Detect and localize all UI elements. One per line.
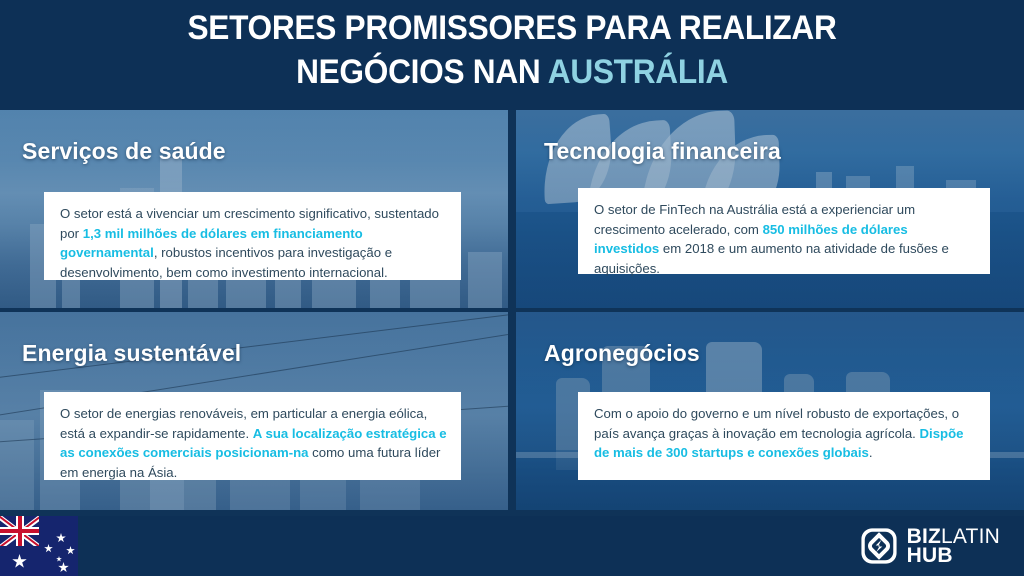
card-text-part: . — [869, 445, 873, 460]
quadrant-title: Energia sustentável — [22, 340, 241, 367]
logo-wordmark: BIZLATIN HUB — [907, 527, 1000, 565]
page-title: SETORES PROMISSORES PARA REALIZAR NEGÓCI… — [36, 6, 988, 94]
quadrant-card: O setor está a vivenciar um crescimento … — [44, 192, 461, 280]
union-jack — [0, 516, 39, 546]
title-accent-word: AUSTRÁLIA — [548, 53, 728, 91]
quadrant-card: O setor de FinTech na Austrália está a e… — [578, 188, 990, 274]
star-epsilon-crucis — [58, 562, 69, 573]
bizlatinhub-logo[interactable]: BIZLATIN HUB — [860, 527, 1000, 565]
title-line-2-plain: NEGÓCIOS NAN — [296, 53, 548, 91]
title-line-2: NEGÓCIOS NAN AUSTRÁLIA — [36, 50, 988, 94]
logo-line-2: HUB — [907, 546, 1000, 565]
star-gamma-crucis — [66, 546, 75, 555]
footer-bar: BIZLATIN HUB — [0, 516, 1024, 576]
quadrant-energia-sustentavel: Energia sustentável O setor de energias … — [0, 312, 508, 510]
card-text-part: Com o apoio do governo e um nível robust… — [594, 406, 959, 441]
star-alpha-crucis — [56, 533, 66, 543]
star-delta-crucis — [56, 556, 62, 562]
title-line-1: SETORES PROMISSORES PARA REALIZAR — [187, 9, 836, 47]
quadrant-card: Com o apoio do governo e um nível robust… — [578, 392, 990, 480]
quadrant-grid: Serviços de saúde O setor está a vivenci… — [0, 110, 1024, 516]
quadrant-title: Agronegócios — [544, 340, 700, 367]
quadrant-card: O setor de energias renováveis, em parti… — [44, 392, 461, 480]
quadrant-tecnologia-financeira: Tecnologia financeira O setor de FinTech… — [516, 110, 1024, 308]
quadrant-agronegocios: Agronegócios Com o apoio do governo e um… — [516, 312, 1024, 510]
infographic-root: SETORES PROMISSORES PARA REALIZAR NEGÓCI… — [0, 0, 1024, 576]
australia-flag-icon — [0, 516, 78, 576]
star-beta-crucis — [44, 544, 53, 553]
quadrant-title: Tecnologia financeira — [544, 138, 781, 165]
quadrant-title: Serviços de saúde — [22, 138, 226, 165]
header-band: SETORES PROMISSORES PARA REALIZAR NEGÓCI… — [0, 0, 1024, 110]
quadrant-servicos-de-saude: Serviços de saúde O setor está a vivenci… — [0, 110, 508, 308]
commonwealth-star — [12, 554, 27, 569]
chain-link-logo-icon — [860, 527, 898, 565]
